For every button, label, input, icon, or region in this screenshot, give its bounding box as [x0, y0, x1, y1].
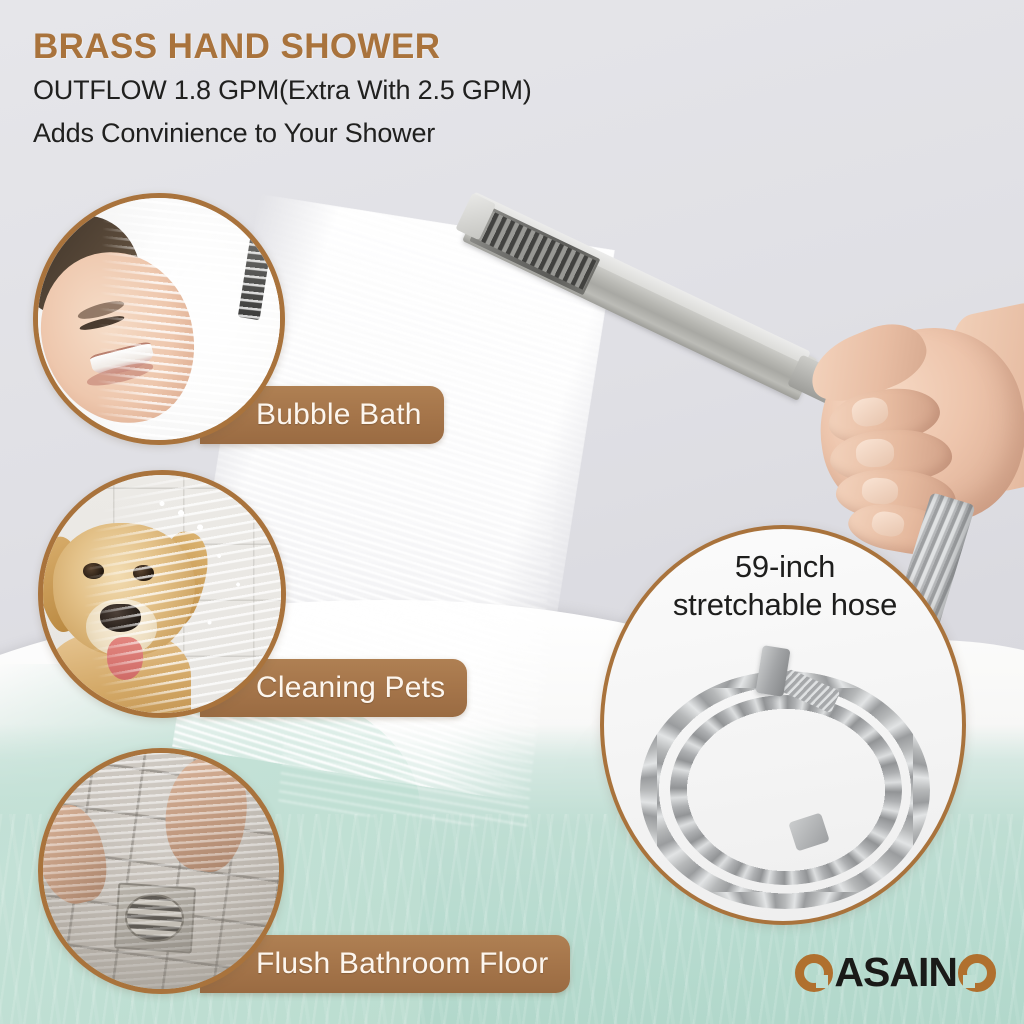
subtitle-line-1: OUTFLOW 1.8 GPM(Extra With 2.5 GPM) — [33, 73, 532, 109]
hose-caption-line-2: stretchable hose — [610, 586, 960, 624]
subtitle-line-2: Adds Convinience to Your Shower — [33, 116, 532, 152]
brand-logo: ASAIN — [795, 949, 996, 996]
hose-coil-inner-loop — [670, 695, 902, 885]
logo-text: ASAIN — [834, 949, 957, 996]
fingernail-ring — [861, 477, 899, 505]
photo-woman-in-shower — [38, 198, 280, 440]
logo-c-ring-icon — [795, 954, 833, 992]
fingernail-middle — [856, 438, 895, 467]
photo-bathroom-floor — [43, 753, 279, 989]
wand-top-bevel — [469, 192, 811, 365]
logo-o-ring-icon — [958, 954, 996, 992]
heading-block: BRASS HAND SHOWER OUTFLOW 1.8 GPM(Extra … — [33, 28, 532, 152]
feature-image-cleaning-pets — [38, 470, 286, 718]
shower-water-in-photo — [38, 198, 280, 440]
product-infographic: BRASS HAND SHOWER OUTFLOW 1.8 GPM(Extra … — [0, 0, 1024, 1024]
floor-water-flow — [43, 753, 279, 989]
page-title: BRASS HAND SHOWER — [33, 28, 532, 66]
feature-image-flush-bathroom-floor — [38, 748, 284, 994]
photo-dog-being-washed — [43, 475, 281, 713]
hose-caption-line-1: 59-inch — [610, 548, 960, 586]
dog-water-droplets — [43, 475, 281, 713]
hose-caption: 59-inch stretchable hose — [610, 548, 960, 625]
feature-image-bubble-bath — [33, 193, 285, 445]
